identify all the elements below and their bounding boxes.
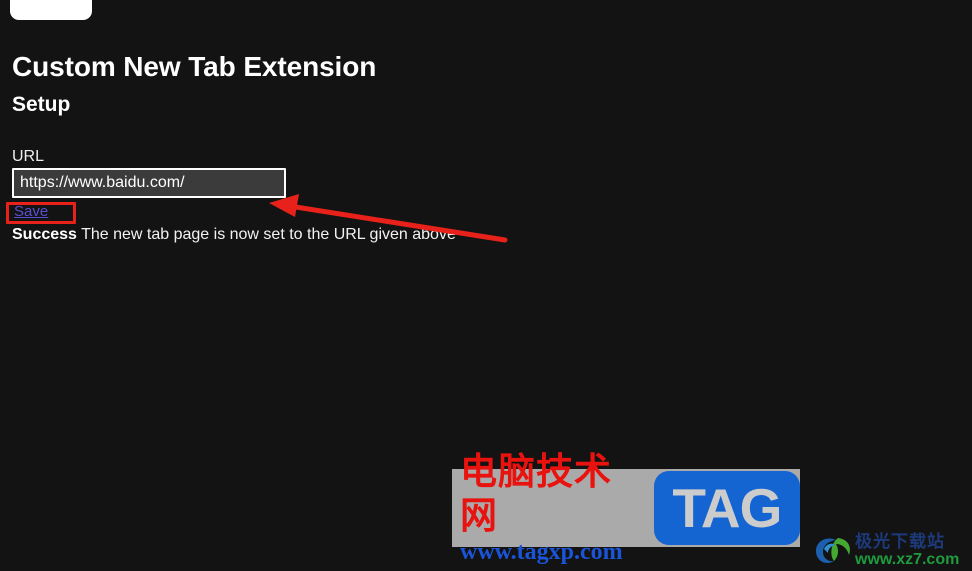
watermark-tagxp-text: 电脑技术网 www.tagxp.com xyxy=(452,450,648,566)
watermark-xz7-name: 极光下载站 xyxy=(855,533,959,551)
url-input[interactable] xyxy=(12,168,286,198)
section-heading-setup: Setup xyxy=(12,93,70,117)
xz7-swirl-logo-icon xyxy=(812,534,854,568)
watermark-tag-badge-label: TAG xyxy=(672,476,781,540)
status-text: The new tab page is now set to the URL g… xyxy=(81,226,456,243)
watermark-tagxp-url: www.tagxp.com xyxy=(460,538,648,566)
watermark-tagxp-name: 电脑技术网 xyxy=(460,450,648,538)
watermark-tag-badge: TAG xyxy=(654,471,800,545)
status-message: Success The new tab page is now set to t… xyxy=(12,226,456,244)
watermark-xz7-text: 极光下载站 www.xz7.com xyxy=(855,533,959,569)
url-field-label: URL xyxy=(12,148,44,166)
save-button[interactable]: Save xyxy=(14,203,48,220)
extension-options-page: Custom New Tab Extension Setup URL Save … xyxy=(0,0,972,571)
watermark-xz7: 极光下载站 www.xz7.com xyxy=(812,531,972,571)
watermark-tagxp: 电脑技术网 www.tagxp.com TAG xyxy=(452,469,800,547)
page-title: Custom New Tab Extension xyxy=(12,51,376,83)
status-badge: Success xyxy=(12,226,77,243)
watermark-xz7-url: www.xz7.com xyxy=(855,551,959,569)
